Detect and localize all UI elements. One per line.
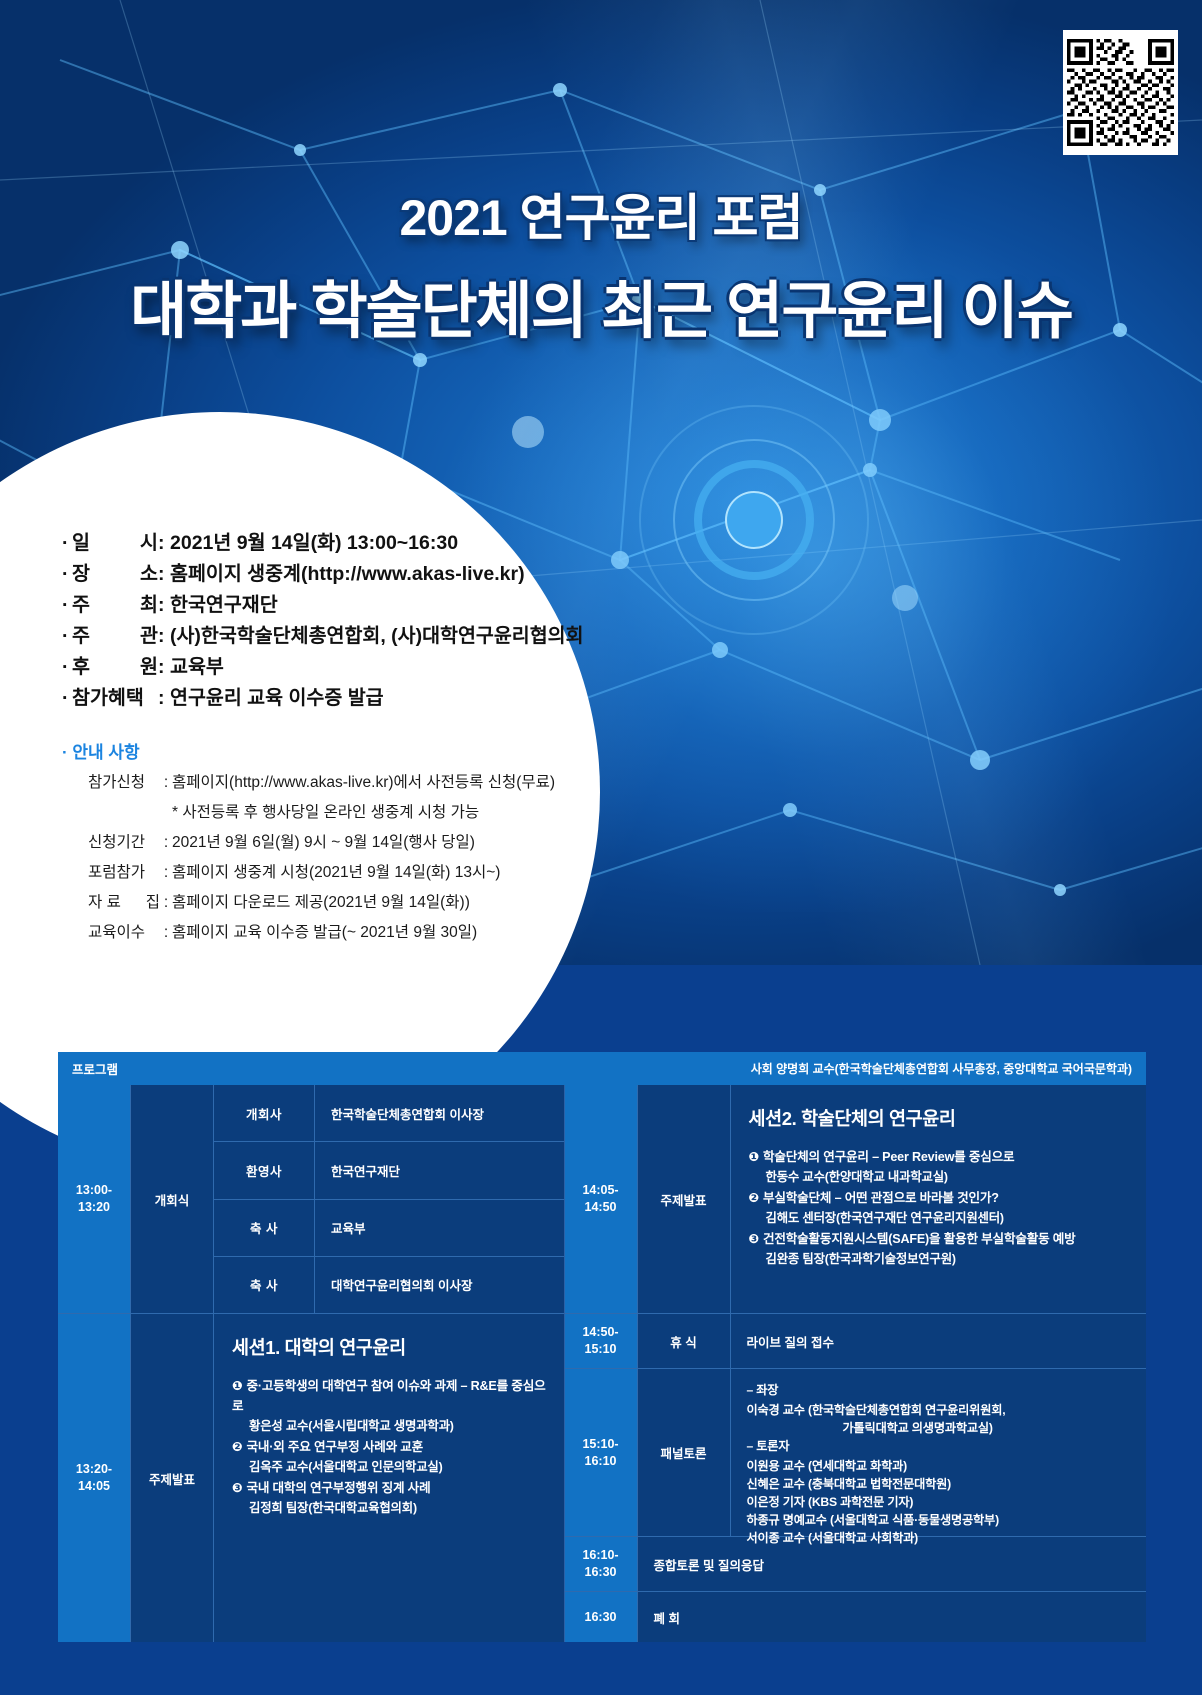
time-cell: 13:00- 13:20 [58, 1085, 131, 1313]
info-label: 주 관 [72, 621, 158, 652]
colon: : [160, 828, 172, 858]
colon: : [158, 590, 170, 621]
notice-label: 교육이수 [88, 918, 160, 948]
closing-value: 폐 회 [638, 1592, 1146, 1642]
colon: : [158, 559, 170, 590]
bullet-icon: · [62, 559, 72, 590]
info-label: 일 시 [72, 528, 158, 559]
panel-chair-line2: 가톨릭대학교 의생명과학교실) [747, 1419, 1136, 1437]
info-row: · 후 원 : 교육부 [62, 652, 622, 683]
notice-row: 자 료 집 : 홈페이지 다운로드 제공(2021년 9월 14일(화)) [88, 888, 608, 918]
qr-code-icon[interactable] [1063, 30, 1178, 155]
info-value: 교육부 [170, 652, 622, 683]
qr-code-graphic [1067, 34, 1174, 151]
session-item: ❷국내·외 주요 연구부정 사례와 교훈 [232, 1437, 550, 1457]
session-speaker: 김완종 팀장(한국과학기술정보연구원) [749, 1249, 1132, 1269]
panel-discussant-label: – 토론자 [747, 1437, 1136, 1455]
table-row: 개회사 한국학술단체총연합회 이사장 [214, 1085, 564, 1142]
program-block-break: 14:50- 15:10 휴 식 라이브 질의 접수 [565, 1314, 1146, 1369]
notice-subnote: * 사전등록 후 행사당일 온라인 생중계 시청 가능 [88, 798, 608, 828]
row-label: 축 사 [214, 1200, 315, 1256]
kind-cell: 개회식 [131, 1085, 214, 1313]
program-header: 프로그램 사회 양명희 교수(한국학술단체총연합회 사무총장, 중앙대학교 국어… [58, 1052, 1146, 1085]
info-row: · 주 최 : 한국연구재단 [62, 590, 622, 621]
session-speaker: 김옥주 교수(서울대학교 인문의학교실) [232, 1457, 550, 1477]
colon: : [158, 621, 170, 652]
poster-title: 2021 연구윤리 포럼 [0, 178, 1202, 250]
panel-chair-line1: 이숙경 교수 (한국학술단체총연합회 연구윤리위원회, [747, 1401, 1136, 1419]
colon: : [160, 888, 172, 918]
session-title: 세션2. 학술단체의 연구윤리 [749, 1105, 1132, 1131]
colon: : [160, 768, 172, 798]
notice-value: 홈페이지 다운로드 제공(2021년 9월 14일(화)) [172, 888, 608, 918]
item-number: ❷ [232, 1440, 242, 1454]
item-topic: 국내·외 주요 연구부정 사례와 교훈 [246, 1440, 423, 1454]
notice-value: 홈페이지 생중계 시청(2021년 9월 14일(화) 13시~) [172, 858, 608, 888]
table-row: 축 사 교육부 [214, 1200, 564, 1257]
discussion-value-wrap: 종합토론 및 질의응답 [638, 1537, 1146, 1591]
break-value: 라이브 질의 접수 [731, 1314, 1146, 1368]
time-cell: 16:10- 16:30 [565, 1537, 638, 1591]
panel-chair-label: – 좌장 [747, 1381, 1136, 1399]
notice-label: 신청기간 [88, 828, 160, 858]
info-row: · 일 시 : 2021년 9월 14일(화) 13:00~16:30 [62, 528, 622, 559]
program-left-column: 13:00- 13:20 개회식 개회사 한국학술단체총연합회 이사장 환영사 … [58, 1085, 564, 1642]
info-label: 후 원 [72, 652, 158, 683]
info-value: 2021년 9월 14일(화) 13:00~16:30 [170, 528, 622, 559]
notice-label: 참가신청 [88, 768, 160, 798]
info-row: · 장 소 : 홈페이지 생중계(http://www.akas-live.kr… [62, 559, 622, 590]
time-cell: 14:50- 15:10 [565, 1314, 638, 1368]
session-speaker: 김해도 센터장(한국연구재단 연구윤리지원센터) [749, 1208, 1132, 1228]
poster-subtitle: 대학과 학술단체의 최근 연구윤리 이슈 [0, 260, 1202, 350]
session-speaker: 김정희 팀장(한국대학교육협의회) [232, 1498, 550, 1518]
colon: : [158, 683, 170, 714]
item-number: ❶ [232, 1379, 242, 1393]
program-block-discussion: 16:10- 16:30 종합토론 및 질의응답 [565, 1537, 1146, 1592]
opening-rows: 개회사 한국학술단체총연합회 이사장 환영사 한국연구재단 축 사 교육부 [214, 1085, 564, 1313]
table-row: 환영사 한국연구재단 [214, 1142, 564, 1199]
program-block-closing: 16:30 폐 회 [565, 1592, 1146, 1642]
notice-row: 신청기간 : 2021년 9월 6일(월) 9시 ~ 9월 14일(행사 당일) [88, 828, 608, 858]
item-topic: 국내 대학의 연구부정행위 징계 사례 [246, 1481, 430, 1495]
info-value: (사)한국학술단체총연합회, (사)대학연구윤리협의회 [170, 621, 622, 652]
session-title: 세션1. 대학의 연구윤리 [232, 1334, 550, 1360]
row-value: 한국연구재단 [315, 1161, 564, 1180]
info-value: 연구윤리 교육 이수증 발급 [170, 683, 622, 714]
kind-cell: 휴 식 [638, 1314, 731, 1368]
info-row: · 참가혜택 : 연구윤리 교육 이수증 발급 [62, 683, 622, 714]
closing-value-wrap: 폐 회 [638, 1592, 1146, 1642]
program-block-session2: 14:05- 14:50 주제발표 세션2. 학술단체의 연구윤리 ❶학술단체의… [565, 1085, 1146, 1314]
program-header-title: 프로그램 [72, 1059, 118, 1078]
time-cell: 14:05- 14:50 [565, 1085, 638, 1313]
info-value: 홈페이지 생중계(http://www.akas-live.kr) [170, 559, 622, 590]
time-cell: 16:30 [565, 1592, 638, 1642]
item-topic: 학술단체의 연구윤리 – Peer Review를 중심으로 [763, 1150, 1014, 1164]
notice-label: 자 료 집 [88, 888, 160, 918]
notice-row: 교육이수 : 홈페이지 교육 이수증 발급(~ 2021년 9월 30일) [88, 918, 608, 948]
row-label: 개회사 [214, 1085, 315, 1141]
info-value: 한국연구재단 [170, 590, 622, 621]
kind-cell: 주제발표 [638, 1085, 731, 1313]
bullet-icon: · [62, 528, 72, 559]
colon: : [158, 528, 170, 559]
bullet-icon: · [62, 590, 72, 621]
item-number: ❸ [232, 1481, 242, 1495]
time-cell: 13:20- 14:05 [58, 1314, 131, 1642]
notice-row: 참가신청 : 홈페이지(http://www.akas-live.kr)에서 사… [88, 768, 608, 798]
item-number: ❷ [749, 1191, 759, 1205]
notice-value: 2021년 9월 6일(월) 9시 ~ 9월 14일(행사 당일) [172, 828, 608, 858]
notice-value: 홈페이지(http://www.akas-live.kr)에서 사전등록 신청(… [172, 768, 608, 798]
item-number: ❶ [749, 1150, 759, 1164]
row-label: 환영사 [214, 1142, 315, 1198]
panel-discussant: 신혜은 교수 (충북대학교 법학전문대학원) [747, 1475, 1136, 1493]
colon: : [160, 858, 172, 888]
info-label: 참가혜택 [72, 683, 158, 714]
discussion-value: 종합토론 및 질의응답 [638, 1537, 1146, 1591]
notice-value: 홈페이지 교육 이수증 발급(~ 2021년 9월 30일) [172, 918, 608, 948]
program-block-opening: 13:00- 13:20 개회식 개회사 한국학술단체총연합회 이사장 환영사 … [58, 1085, 564, 1314]
session-item: ❶학술단체의 연구윤리 – Peer Review를 중심으로 [749, 1147, 1132, 1167]
row-value: 대학연구윤리협의회 이사장 [315, 1275, 564, 1294]
bullet-icon: · [62, 621, 72, 652]
row-value: 한국학술단체총연합회 이사장 [315, 1104, 564, 1123]
row-label: 축 사 [214, 1257, 315, 1313]
session-item: ❷부실학술단체 – 어떤 관점으로 바라볼 것인가? [749, 1188, 1132, 1208]
info-row: · 주 관 : (사)한국학술단체총연합회, (사)대학연구윤리협의회 [62, 621, 622, 652]
table-row: 축 사 대학연구윤리협의회 이사장 [214, 1257, 564, 1313]
notice-row: 포럼참가 : 홈페이지 생중계 시청(2021년 9월 14일(화) 13시~) [88, 858, 608, 888]
program-table: 프로그램 사회 양명희 교수(한국학술단체총연합회 사무총장, 중앙대학교 국어… [58, 1052, 1146, 1642]
colon: : [158, 652, 170, 683]
item-number: ❸ [749, 1232, 759, 1246]
kind-cell: 주제발표 [131, 1314, 214, 1642]
program-body: 13:00- 13:20 개회식 개회사 한국학술단체총연합회 이사장 환영사 … [58, 1085, 1146, 1642]
program-moderator: 사회 양명희 교수(한국학술단체총연합회 사무총장, 중앙대학교 국어국문학과) [751, 1060, 1132, 1077]
notice-list: 참가신청 : 홈페이지(http://www.akas-live.kr)에서 사… [88, 768, 608, 948]
bullet-icon: · [62, 683, 72, 714]
kind-cell: 패널토론 [638, 1369, 731, 1536]
session-item: ❸국내 대학의 연구부정행위 징계 사례 [232, 1478, 550, 1498]
bullet-icon: · [62, 652, 72, 683]
program-right-column: 14:05- 14:50 주제발표 세션2. 학술단체의 연구윤리 ❶학술단체의… [564, 1085, 1146, 1642]
time-cell: 15:10- 16:10 [565, 1369, 638, 1536]
colon: : [160, 918, 172, 948]
item-topic: 부실학술단체 – 어떤 관점으로 바라볼 것인가? [763, 1191, 999, 1205]
info-label: 장 소 [72, 559, 158, 590]
session-speaker: 한동수 교수(한양대학교 내과학교실) [749, 1167, 1132, 1187]
event-info-list: · 일 시 : 2021년 9월 14일(화) 13:00~16:30 · 장 … [62, 528, 622, 714]
info-label: 주 최 [72, 590, 158, 621]
program-block-panel: 15:10- 16:10 패널토론 – 좌장 이숙경 교수 (한국학술단체총연합… [565, 1369, 1146, 1537]
panel-discussant: 하종규 명예교수 (서울대학교 식품·동물생명공학부) [747, 1511, 1136, 1529]
session1-content: 세션1. 대학의 연구윤리 ❶중·고등학생의 대학연구 참여 이슈와 과제 – … [214, 1314, 564, 1642]
item-topic: 중·고등학생의 대학연구 참여 이슈와 과제 – R&E를 중심으로 [232, 1379, 545, 1413]
panel-discussant: 이원용 교수 (연세대학교 화학과) [747, 1457, 1136, 1475]
item-topic: 건전학술활동지원시스템(SAFE)을 활용한 부실학술활동 예방 [763, 1232, 1076, 1246]
session2-content: 세션2. 학술단체의 연구윤리 ❶학술단체의 연구윤리 – Peer Revie… [731, 1085, 1146, 1313]
notice-label: 포럼참가 [88, 858, 160, 888]
session-speaker: 황은성 교수(서울시립대학교 생명과학과) [232, 1416, 550, 1436]
row-value: 교육부 [315, 1218, 564, 1237]
panel-content: – 좌장 이숙경 교수 (한국학술단체총연합회 연구윤리위원회, 가톨릭대학교 … [731, 1369, 1146, 1536]
panel-discussant: 이은정 기자 (KBS 과학전문 기자) [747, 1493, 1136, 1511]
break-value-wrap: 라이브 질의 접수 [731, 1314, 1146, 1368]
program-block-session1: 13:20- 14:05 주제발표 세션1. 대학의 연구윤리 ❶중·고등학생의… [58, 1314, 564, 1642]
session-item: ❶중·고등학생의 대학연구 참여 이슈와 과제 – R&E를 중심으로 [232, 1376, 550, 1416]
poster-root: 2021 연구윤리 포럼 대학과 학술단체의 최근 연구윤리 이슈 · 일 시 … [0, 0, 1202, 1695]
session-item: ❸건전학술활동지원시스템(SAFE)을 활용한 부실학술활동 예방 [749, 1229, 1132, 1249]
notice-heading: · 안내 사항 [62, 738, 140, 763]
